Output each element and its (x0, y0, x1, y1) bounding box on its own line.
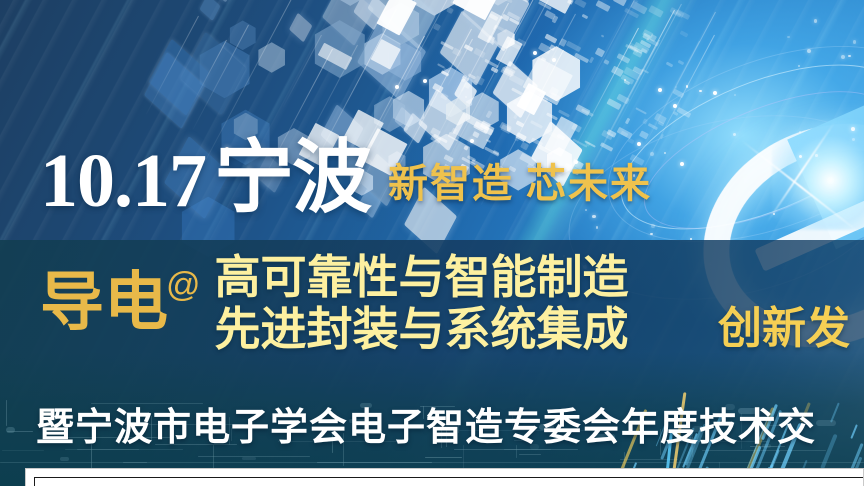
headline-line-1: 高可靠性与智能制造 (215, 252, 629, 304)
right-gold-text: 创新发 (718, 292, 850, 356)
brand-text: 导电 (40, 266, 168, 338)
event-subtitle: 暨宁波市电子学会电子智造专委会年度技术交 (36, 396, 816, 451)
date-and-city-row: 10.17 宁波 新智造 芯未来 (40, 143, 652, 217)
headline-row: 导电@ 高可靠性与智能制造 先进封装与系统集成 (40, 252, 629, 356)
event-slogan: 新智造 芯未来 (388, 151, 652, 209)
event-city: 宁波 (214, 143, 370, 217)
headline-line-2: 先进封装与系统集成 (215, 304, 629, 356)
event-poster: 10.17 宁波 新智造 芯未来 导电@ 高可靠性与智能制造 先进封装与系统集成… (0, 0, 864, 486)
brand-name: 导电@ (40, 270, 201, 334)
bottom-white-panel-inner (34, 477, 863, 486)
event-date: 10.17 (40, 147, 206, 217)
bottom-white-panel (25, 468, 864, 486)
at-symbol-icon: @ (166, 266, 201, 304)
headline-lines: 高可靠性与智能制造 先进封装与系统集成 (215, 252, 629, 356)
